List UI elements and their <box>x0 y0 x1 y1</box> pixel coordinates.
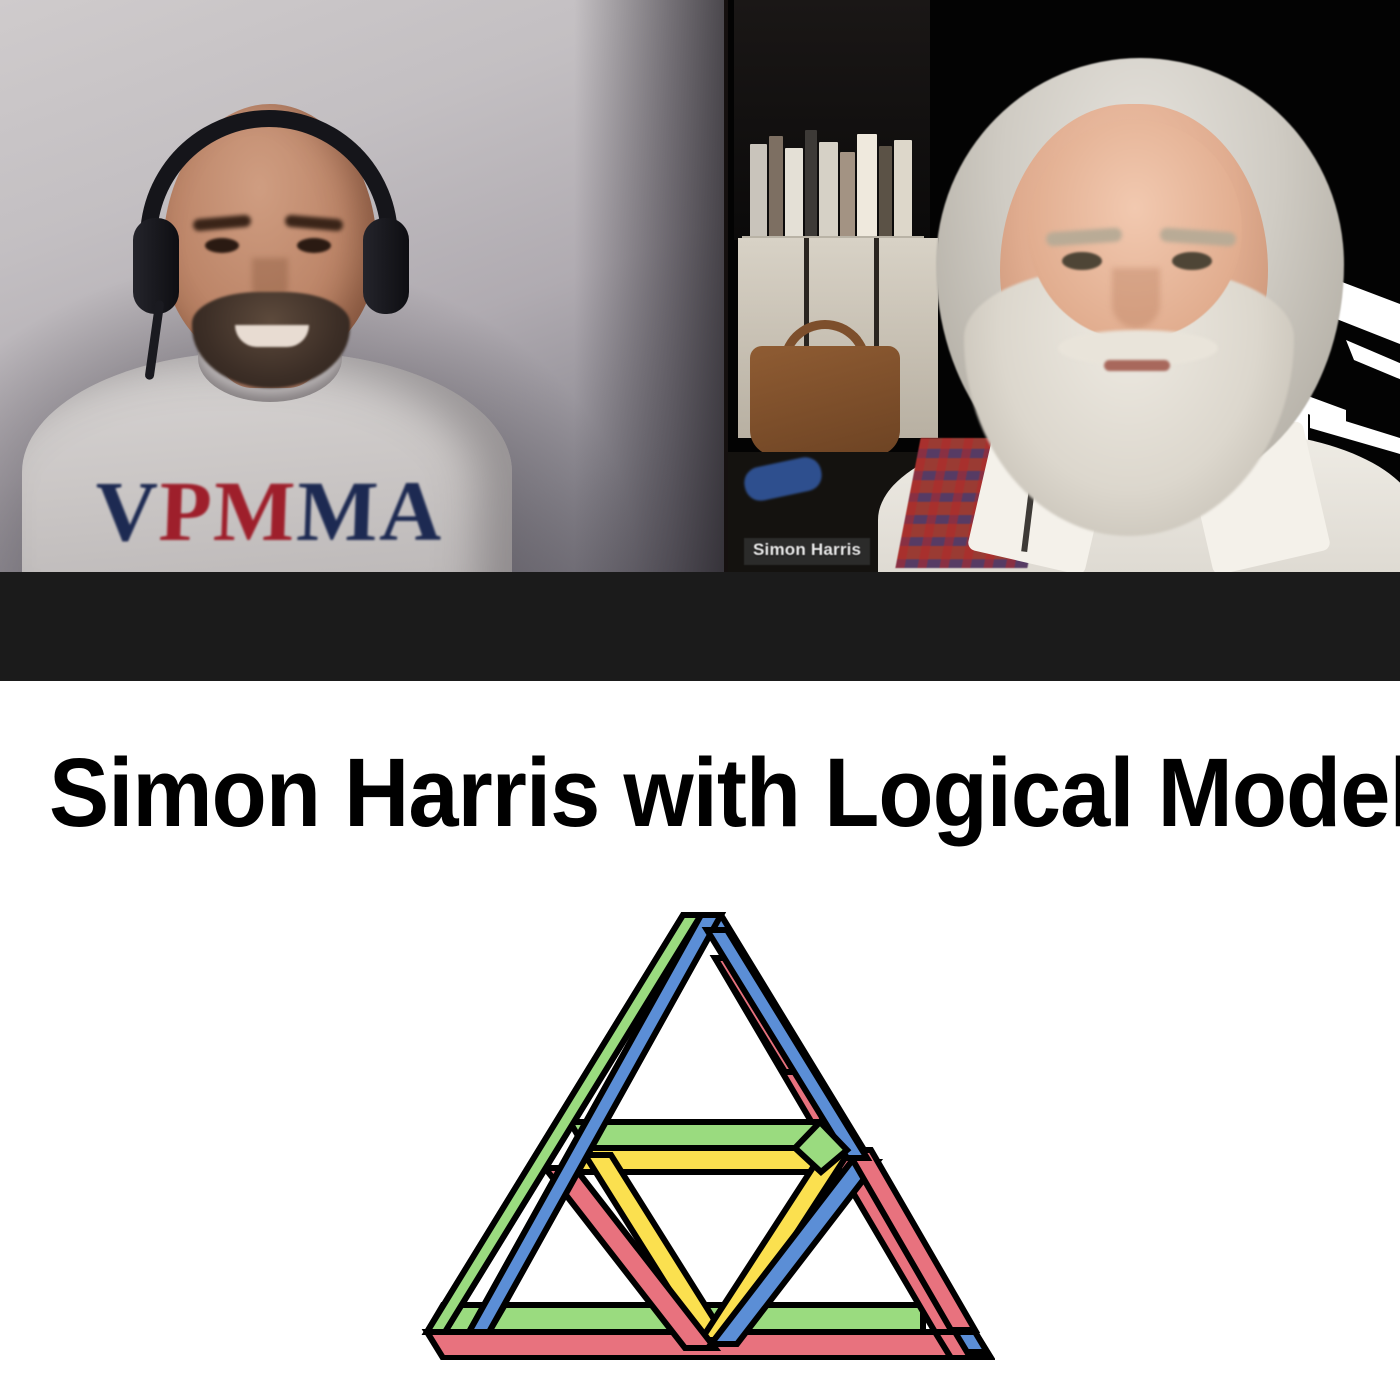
video-call-strip: VPMMA <box>0 0 1400 681</box>
right-participant-eye-right <box>1172 252 1212 270</box>
headphone-earcup-left <box>133 218 179 314</box>
tshirt-letter-m1: M <box>212 463 299 559</box>
video-strip-letterbox <box>0 572 1400 681</box>
participant-name-label: Simon Harris <box>744 538 870 565</box>
logo <box>415 900 995 1360</box>
tshirt-letter-p: P <box>157 463 215 559</box>
tshirt-letter-a: A <box>378 463 445 559</box>
left-participant-mouth <box>235 325 309 347</box>
impossible-triangle-icon <box>415 900 995 1360</box>
left-tile-shadow <box>574 0 724 572</box>
tshirt-logo-text: VPMMA <box>93 468 436 554</box>
tshirt-letter-v: V <box>93 463 160 559</box>
tshirt-letter-m2: M <box>295 463 382 559</box>
video-tile-left[interactable]: VPMMA <box>0 0 724 572</box>
video-tile-right[interactable] <box>728 0 1400 572</box>
right-participant-nose <box>1112 268 1160 328</box>
right-participant-eye-left <box>1062 252 1102 270</box>
right-participant-lip <box>1104 360 1170 371</box>
handbag <box>750 346 900 456</box>
cover-title: Simon Harris with Logical Model <box>49 744 1351 841</box>
bookshelf <box>734 0 930 240</box>
headphone-earcup-right <box>363 218 409 314</box>
podcast-cover-art: VPMMA <box>0 0 1400 1400</box>
